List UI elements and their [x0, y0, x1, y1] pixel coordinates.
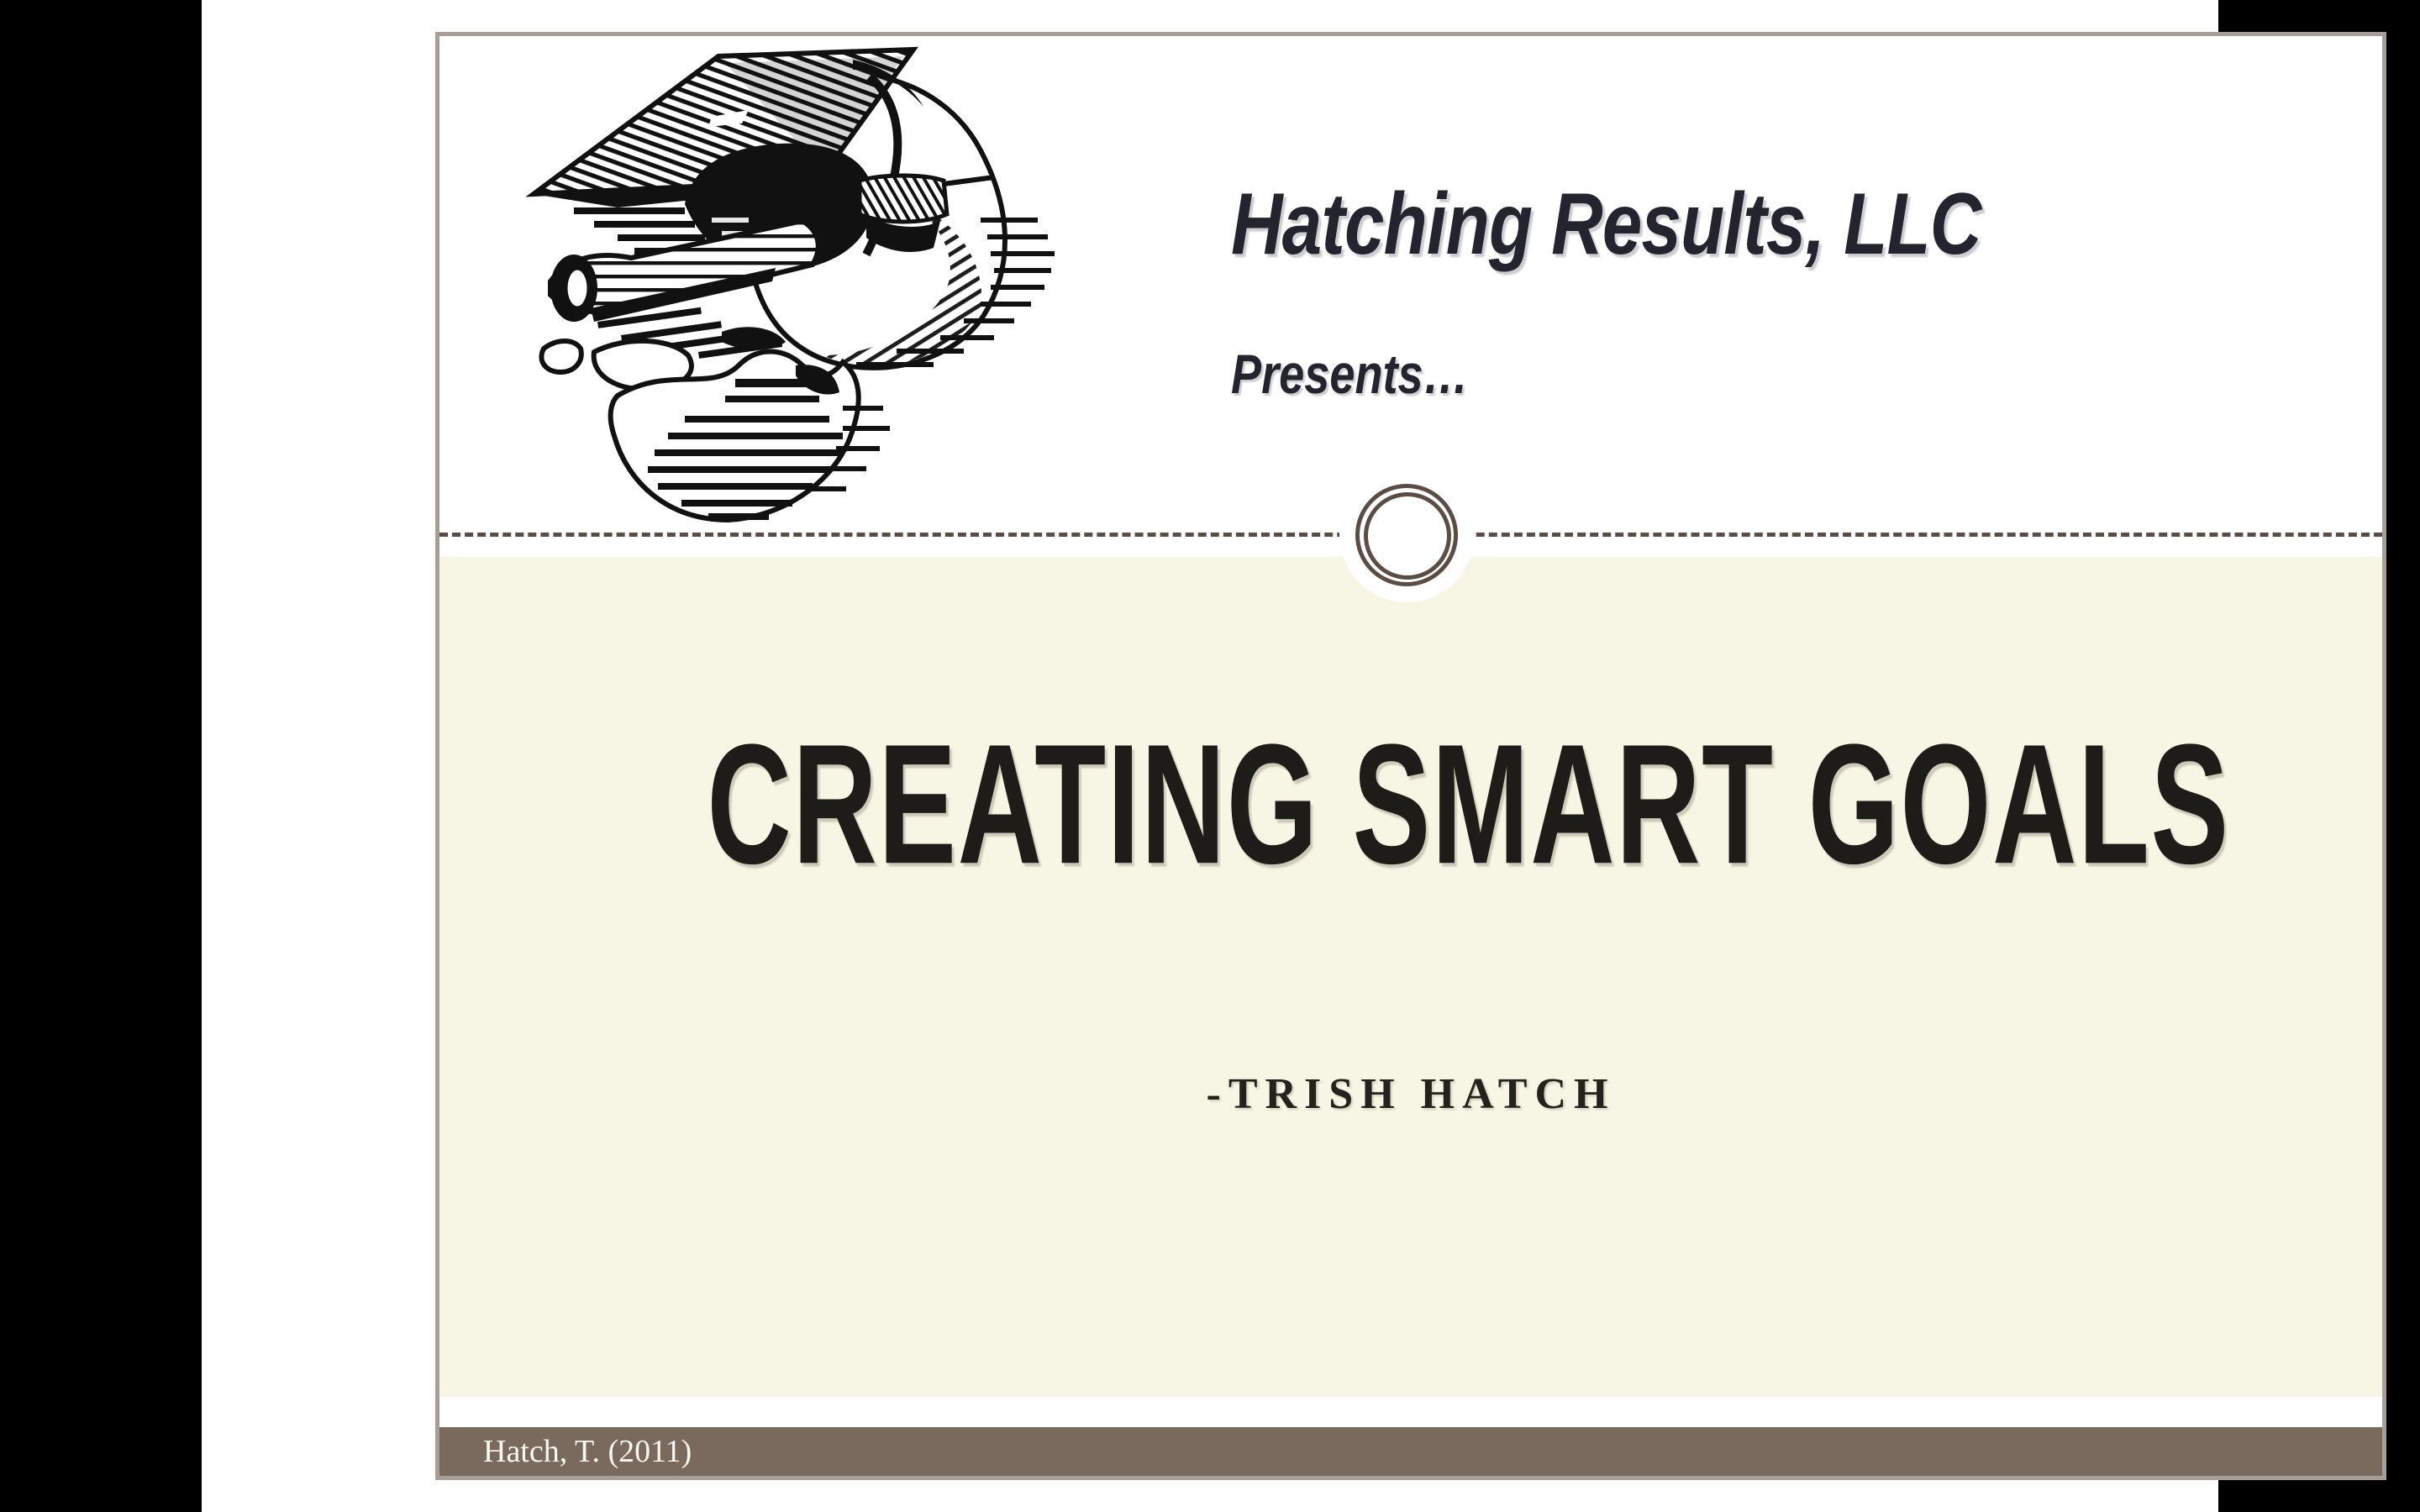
slide-title-text: CREATING SMART GOALS [707, 718, 2229, 889]
presents-tagline: Presents… [1231, 345, 1469, 403]
slide-title: CREATING SMART GOALS [439, 725, 2382, 883]
graduation-cap-diploma-hatching-egg-logo [523, 32, 1095, 540]
slide-footer-bar: Hatch, T. (2011) [439, 1427, 2382, 1476]
presentation-slide[interactable]: Hatching Results, LLC Presents… CREATING… [435, 32, 2386, 1480]
screenshot-stage: Hatching Results, LLC Presents… CREATING… [0, 0, 2420, 1512]
slide-subtitle-attribution: -TRISH HATCH [439, 1069, 2382, 1119]
slide-body-band [439, 557, 2382, 1397]
document-page-surface: Hatching Results, LLC Presents… CREATING… [202, 0, 2218, 1512]
double-ring-circle-ornament [1339, 468, 1474, 602]
ornament-inner-ring [1364, 492, 1451, 580]
slide-header-band: Hatching Results, LLC Presents… [439, 36, 2382, 537]
organization-name: Hatching Results, LLC [1231, 179, 1981, 270]
footer-citation: Hatch, T. (2011) [439, 1433, 692, 1470]
